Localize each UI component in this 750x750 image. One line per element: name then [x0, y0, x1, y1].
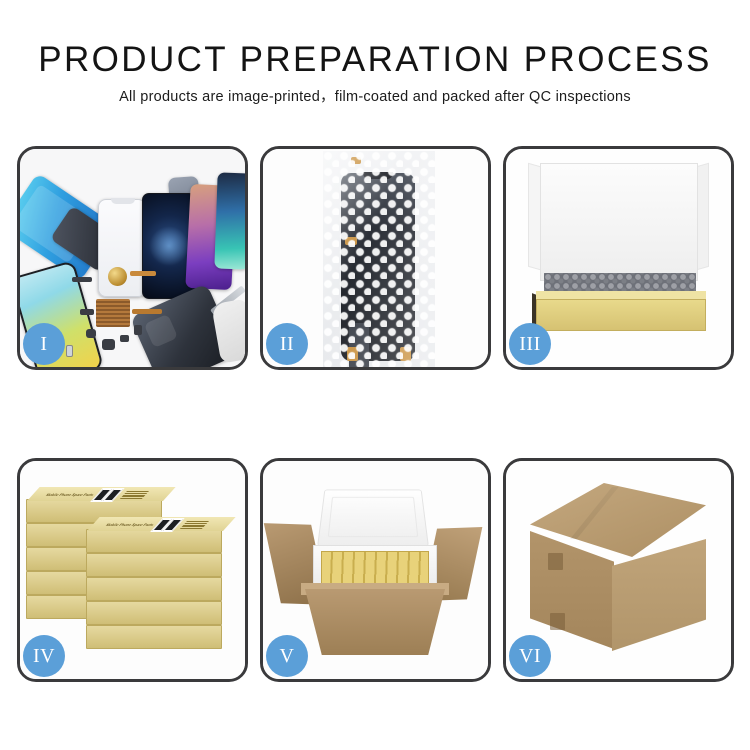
carton-tape-lower: [550, 613, 565, 630]
box-label-title: Mobile Phone Spare Parts: [105, 523, 155, 527]
flex-cable-2: [132, 309, 162, 314]
stacked-box: [86, 553, 222, 577]
gold-speaker-part: [108, 267, 127, 286]
chip-part-5: [134, 325, 142, 335]
sim-tray-part: [66, 345, 73, 357]
step-badge-5: V: [266, 635, 308, 677]
box-white-lid: [540, 163, 698, 281]
chip-part-3: [102, 339, 115, 350]
foam-box-lid: [317, 490, 429, 547]
carton-front-face: [530, 531, 614, 649]
box-yellow-front: [536, 299, 706, 331]
box-label: Mobile Phone Spare Parts: [41, 489, 160, 501]
step-badge-6: VI: [509, 635, 551, 677]
stacked-box-top-right: Mobile Phone Spare Parts: [86, 529, 222, 553]
box-label-textlines: [180, 521, 209, 529]
step-badge-2: II: [266, 323, 308, 365]
logic-board-part: [96, 299, 130, 327]
phone-teal-display: [214, 172, 245, 269]
step-panel-4: Mobile Phone Spare Parts: [17, 458, 248, 682]
chip-part-1: [72, 277, 92, 282]
box-label-images: [90, 488, 125, 502]
step-panel-5: V Boxes loaded into a foam box inside an…: [260, 458, 491, 682]
stacked-box: [86, 577, 222, 601]
step-badge-4: IV: [23, 635, 65, 677]
carton-tape-upper: [548, 553, 563, 570]
box-label-images: [150, 518, 185, 532]
chip-part-4: [120, 335, 129, 342]
box-label: Mobile Phone Spare Parts: [101, 519, 220, 531]
plastic-sheen: [323, 151, 435, 367]
process-steps-grid: I Mobile phone LCD screens, glass panels…: [17, 146, 735, 682]
step-badge-1: I: [23, 323, 65, 365]
step-panel-2: II Each screen wrapped in bubble film: [260, 146, 491, 370]
chip-part-2: [86, 329, 96, 338]
carton-side-face: [612, 539, 706, 651]
flex-cable-1: [130, 271, 156, 276]
bubble-wrap-bag: [323, 151, 435, 367]
chip-part-6: [80, 309, 94, 315]
step-panel-6: VI Outer carton sealed and ready for shi…: [503, 458, 734, 682]
step-badge-3: III: [509, 323, 551, 365]
step-panel-3: III Placed into a yellow carton lined wi…: [503, 146, 734, 370]
box-label-textlines: [120, 491, 149, 499]
carton-body: [305, 589, 445, 655]
product-preparation-infographic: PRODUCT PREPARATION PROCESS All products…: [0, 0, 750, 750]
header: PRODUCT PREPARATION PROCESS All products…: [0, 0, 750, 107]
page-subtitle: All products are image-printed，film-coat…: [0, 87, 750, 107]
page-title: PRODUCT PREPARATION PROCESS: [0, 40, 750, 80]
stacked-box: [86, 601, 222, 625]
step-panel-1: I Mobile phone LCD screens, glass panels…: [17, 146, 248, 370]
stacked-box: [86, 625, 222, 649]
box-label-title: Mobile Phone Spare Parts: [45, 493, 95, 497]
